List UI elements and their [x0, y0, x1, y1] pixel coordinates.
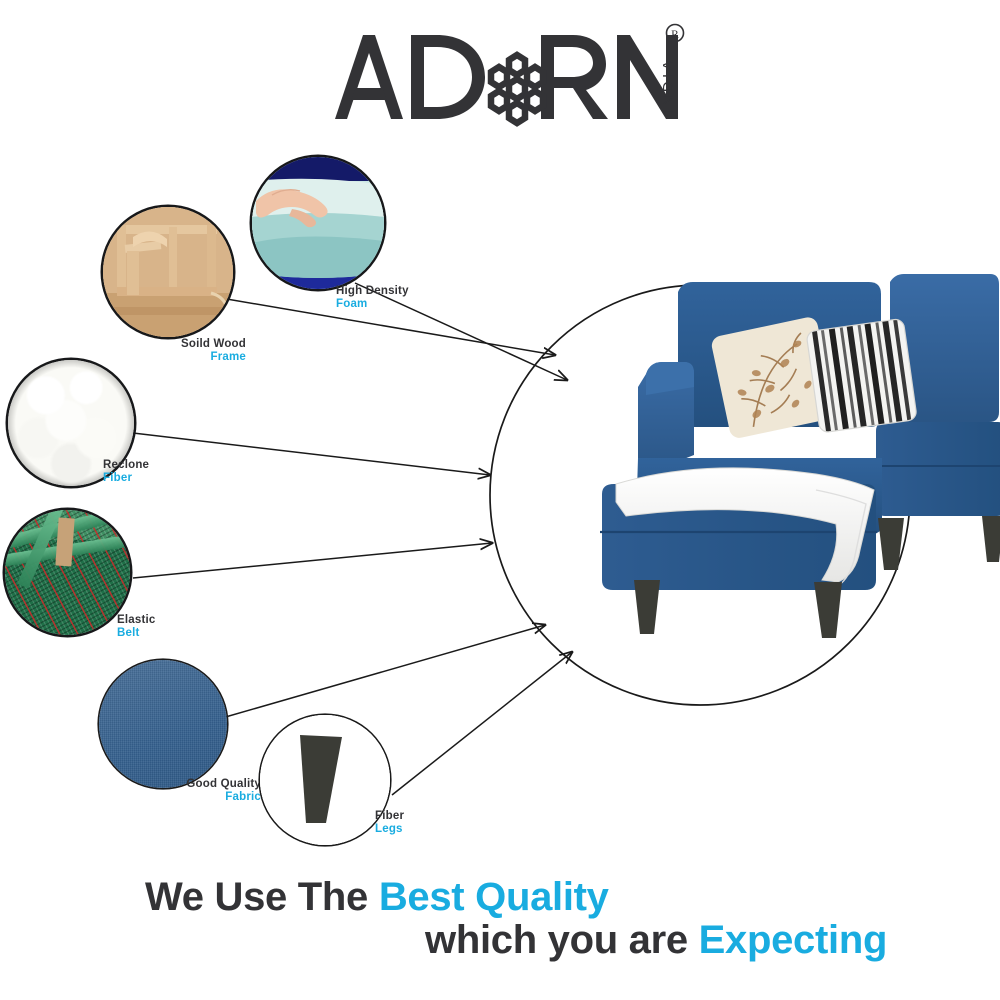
green-elastic-webbing-photo: [5, 510, 130, 635]
blue-fabric-swatch-photo: [99, 660, 227, 788]
tagline-line-1-dark: We Use The: [145, 875, 379, 919]
registered-trademark-icon: R: [667, 25, 684, 42]
svg-text:R: R: [671, 29, 679, 41]
wood-rail: [55, 518, 74, 567]
tagline-line-1-cyan: Best Quality: [379, 875, 609, 919]
arrow-elastic-belt: [133, 543, 492, 578]
caption-line-2: Legs: [375, 823, 495, 836]
wooden-sofa-frame-photo: [103, 207, 233, 337]
striped-throw-pillow: [806, 318, 917, 433]
caption-line-1: High Density: [336, 285, 486, 298]
honeycomb-hexagon-cluster-icon: [491, 55, 543, 123]
caption-reclone-fiber: Reclone Fiber: [103, 459, 243, 485]
leg-illustration: [260, 715, 390, 845]
chaise-seat-right: [876, 422, 1000, 516]
leg: [982, 516, 1000, 562]
feature-reclone-fiber[interactable]: Reclone Fiber: [8, 360, 143, 495]
feature-high-density-foam[interactable]: High Density Foam: [252, 157, 392, 297]
feature-elastic-belt[interactable]: Elastic Belt: [5, 510, 140, 645]
feature-solid-wood-frame[interactable]: Soild Wood Frame: [103, 207, 238, 342]
caption-line-1: Soild Wood: [86, 338, 246, 351]
caption-line-1: Good Quality: [71, 778, 261, 791]
caption-line-2: Foam: [336, 298, 486, 311]
hand-pressing-foam-photo: [252, 157, 384, 289]
caption-line-1: Reclone: [103, 459, 243, 472]
tapered-sofa-leg-photo: [260, 715, 390, 845]
frame-illustration: [103, 207, 233, 337]
svg-text:INDIA: INDIA: [660, 57, 677, 114]
leg: [878, 518, 904, 570]
logo-country-text: INDIA: [660, 57, 677, 114]
tagline-line-1: We Use The Best Quality: [0, 876, 1000, 919]
product-sofa-image: [590, 270, 1000, 660]
caption-fiber-legs: Fiber Legs: [375, 810, 495, 836]
caption-elastic-belt: Elastic Belt: [117, 614, 257, 640]
caption-high-density-foam: High Density Foam: [336, 285, 486, 311]
feature-fiber-legs[interactable]: Fiber Legs: [260, 715, 395, 850]
caption-line-1: Elastic: [117, 614, 257, 627]
brand-logo-svg: INDIA R: [325, 22, 685, 127]
tagline-line-2-cyan: Expecting: [699, 918, 887, 962]
caption-line-2: Belt: [117, 627, 257, 640]
infographic-canvas: INDIA R: [0, 0, 1000, 1000]
tagline-block: We Use The Best Quality which you are Ex…: [0, 876, 1000, 962]
tagline-line-2: which you are Expecting: [0, 919, 1000, 962]
arrow-good-quality-fabric: [222, 625, 545, 718]
caption-line-1: Fiber: [375, 810, 495, 823]
feature-good-quality-fabric[interactable]: Good Quality Fabric: [99, 660, 234, 795]
tagline-line-2-dark: which you are: [425, 918, 699, 962]
arrow-fiber-legs: [392, 652, 572, 795]
leg: [814, 582, 842, 638]
foam-illustration: [252, 157, 384, 289]
leg: [634, 580, 660, 634]
sofa-illustration: [590, 270, 1000, 660]
caption-line-2: Fabric: [71, 791, 261, 804]
caption-line-2: Fiber: [103, 472, 243, 485]
caption-good-quality-fabric: Good Quality Fabric: [71, 778, 261, 804]
brand-logo: INDIA R: [325, 22, 685, 127]
